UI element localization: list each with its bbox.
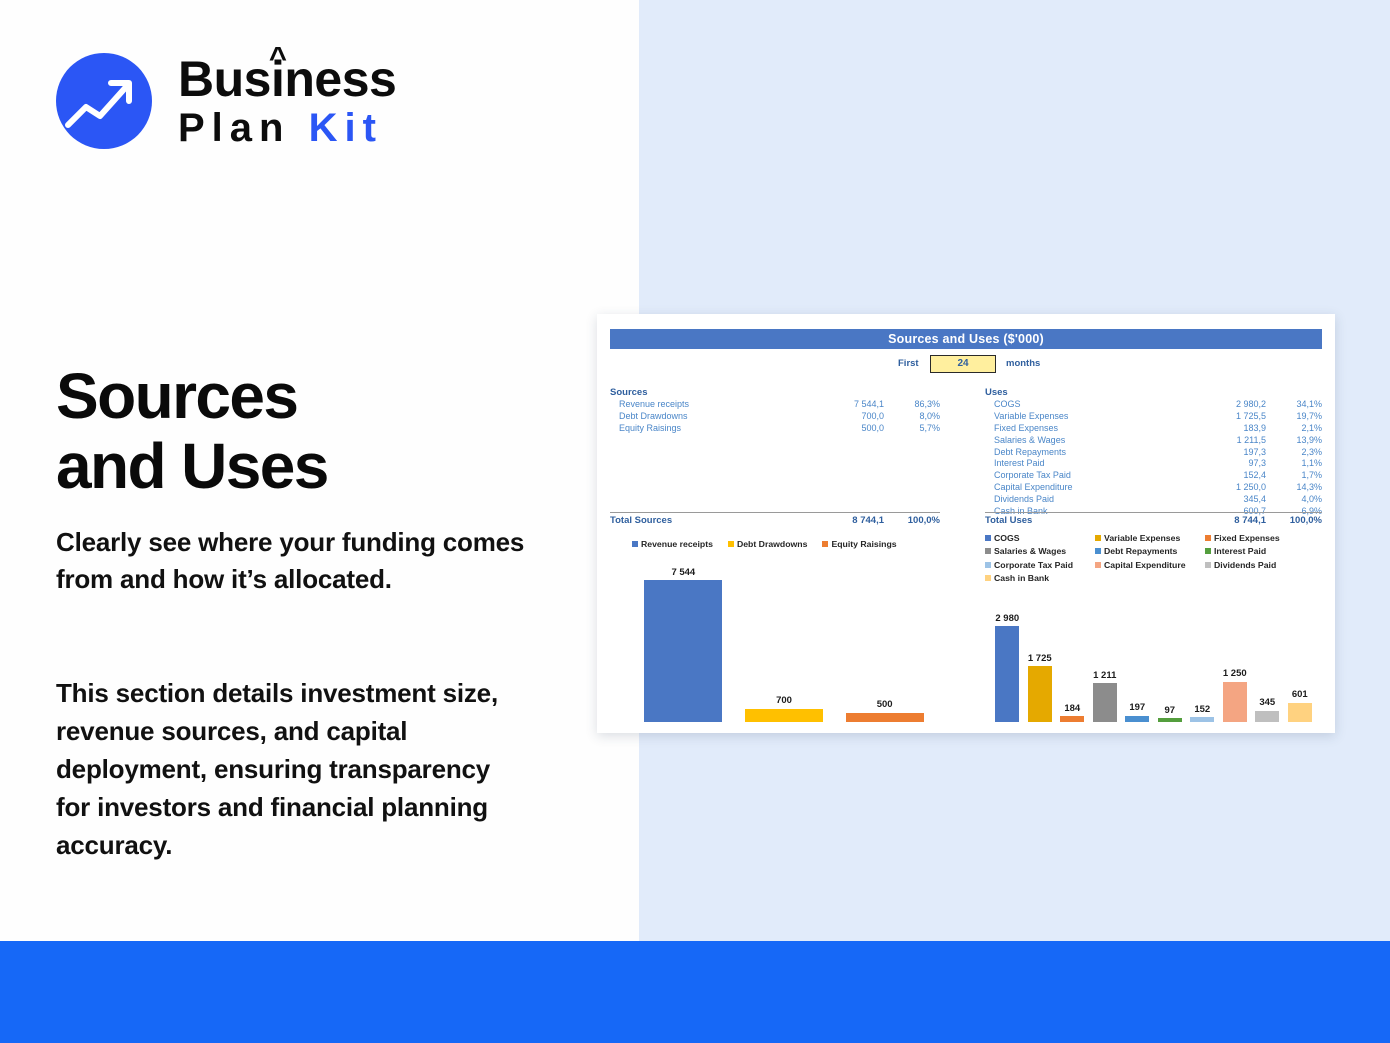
- use-item-amount: 1 250,0: [1192, 482, 1266, 494]
- use-item-amount: 2 980,2: [1192, 399, 1266, 411]
- bar-value-label: 7 544: [671, 567, 695, 578]
- legend-item[interactable]: Revenue receipts: [632, 539, 713, 549]
- uses-heading: Uses: [985, 386, 1322, 399]
- legend-item[interactable]: Variable Expenses: [1095, 533, 1205, 543]
- chart-bar[interactable]: 1 211: [1093, 562, 1117, 722]
- legend-label: Revenue receipts: [641, 539, 713, 549]
- table-row: Variable Expenses1 725,519,7%: [985, 411, 1322, 423]
- use-item-amount: 197,3: [1192, 447, 1266, 459]
- table-row: Fixed Expenses183,92,1%: [985, 423, 1322, 435]
- footer-band: [0, 941, 1390, 1043]
- source-item-percent: 8,0%: [884, 411, 940, 423]
- bar-value-label: 1 725: [1028, 653, 1052, 664]
- months-input[interactable]: 24: [930, 355, 996, 373]
- legend-swatch-icon: [728, 541, 734, 547]
- bar-rect: [1125, 716, 1149, 722]
- uses-total-amount: 8 744,1: [1192, 513, 1266, 528]
- bar-rect: [1158, 718, 1182, 722]
- source-item-percent: 5,7%: [884, 423, 940, 435]
- use-item-amount: 152,4: [1192, 470, 1266, 482]
- use-item-name: Debt Repayments: [985, 447, 1192, 459]
- chart-bar[interactable]: 345: [1255, 562, 1279, 722]
- brand-kit-word: Kit: [309, 106, 383, 150]
- use-item-percent: 13,9%: [1266, 435, 1322, 447]
- chart-bar[interactable]: 197: [1125, 562, 1149, 722]
- bar-rect: [1190, 717, 1214, 722]
- table-row: Debt Drawdowns700,08,0%: [610, 411, 940, 423]
- legend-label: Variable Expenses: [1104, 533, 1180, 543]
- brand-logo: Busi^ness Plan Kit: [56, 53, 446, 158]
- source-item-percent: 86,3%: [884, 399, 940, 411]
- legend-item[interactable]: Equity Raisings: [822, 539, 896, 549]
- bar-value-label: 345: [1259, 697, 1275, 708]
- bar-value-label: 197: [1129, 702, 1145, 713]
- legend-label: Fixed Expenses: [1214, 533, 1280, 543]
- bar-value-label: 97: [1164, 705, 1175, 716]
- bar-rect: [1093, 683, 1117, 722]
- brand-plan-word: Plan: [178, 106, 290, 150]
- legend-swatch-icon: [985, 548, 991, 554]
- sources-total-amount: 8 744,1: [810, 513, 884, 528]
- bar-rect: [644, 580, 722, 722]
- body-description-text: This section details investment size, re…: [56, 674, 526, 864]
- uses-bar-chart: 2 9801 7251841 211197971521 250345601: [985, 562, 1322, 722]
- legend-row: COGSVariable ExpensesFixed Expenses: [985, 531, 1315, 545]
- brand-name-line2: Plan Kit: [178, 105, 396, 151]
- chart-bar[interactable]: 97: [1158, 562, 1182, 722]
- use-item-name: Fixed Expenses: [985, 423, 1192, 435]
- period-prefix-label: First: [898, 358, 919, 369]
- use-item-name: Salaries & Wages: [985, 435, 1192, 447]
- source-item-name: Revenue receipts: [610, 399, 810, 411]
- use-item-name: Dividends Paid: [985, 494, 1192, 506]
- chart-bar[interactable]: 601: [1288, 562, 1312, 722]
- legend-label: Equity Raisings: [831, 539, 896, 549]
- use-item-percent: 19,7%: [1266, 411, 1322, 423]
- source-item-amount: 700,0: [810, 411, 884, 423]
- uses-total-row: Total Uses 8 744,1 100,0%: [985, 512, 1322, 528]
- sources-total-row: Total Sources 8 744,1 100,0%: [610, 512, 940, 528]
- uses-table: Uses COGS2 980,234,1%Variable Expenses1 …: [985, 386, 1322, 518]
- use-item-name: Capital Expenditure: [985, 482, 1192, 494]
- sources-heading: Sources: [610, 386, 940, 399]
- use-item-amount: 1 725,5: [1192, 411, 1266, 423]
- legend-item[interactable]: Interest Paid: [1205, 546, 1315, 556]
- sources-bar-chart: 7 544700500: [619, 562, 949, 722]
- legend-row: Salaries & WagesDebt RepaymentsInterest …: [985, 545, 1315, 559]
- legend-swatch-icon: [985, 535, 991, 541]
- legend-label: Debt Drawdowns: [737, 539, 807, 549]
- sources-chart-legend: Revenue receiptsDebt DrawdownsEquity Rai…: [632, 537, 932, 551]
- source-item-amount: 500,0: [810, 423, 884, 435]
- legend-item[interactable]: Debt Drawdowns: [728, 539, 807, 549]
- legend-item[interactable]: COGS: [985, 533, 1095, 543]
- period-suffix-label: months: [1006, 358, 1040, 369]
- table-row: Dividends Paid345,44,0%: [985, 494, 1322, 506]
- bar-value-label: 700: [776, 695, 792, 706]
- chart-bar[interactable]: 2 980: [995, 562, 1019, 722]
- bar-rect: [995, 626, 1019, 722]
- use-item-percent: 2,1%: [1266, 423, 1322, 435]
- legend-swatch-icon: [822, 541, 828, 547]
- bar-rect: [745, 709, 823, 722]
- legend-label: Debt Repayments: [1104, 546, 1177, 556]
- bar-value-label: 2 980: [995, 613, 1019, 624]
- use-item-name: Variable Expenses: [985, 411, 1192, 423]
- use-item-amount: 97,3: [1192, 458, 1266, 470]
- source-item-name: Debt Drawdowns: [610, 411, 810, 423]
- legend-label: COGS: [994, 533, 1020, 543]
- bar-value-label: 1 211: [1093, 670, 1116, 681]
- use-item-percent: 34,1%: [1266, 399, 1322, 411]
- bar-rect: [1028, 666, 1052, 722]
- chart-bar[interactable]: 700: [745, 562, 823, 722]
- bar-rect: [1288, 703, 1312, 722]
- legend-swatch-icon: [1095, 548, 1101, 554]
- bar-rect: [1255, 711, 1279, 722]
- use-item-name: Corporate Tax Paid: [985, 470, 1192, 482]
- legend-swatch-icon: [1095, 535, 1101, 541]
- chart-bar[interactable]: 500: [846, 562, 924, 722]
- use-item-percent: 1,7%: [1266, 470, 1322, 482]
- uses-total-label: Total Uses: [985, 513, 1192, 528]
- legend-label: Salaries & Wages: [994, 546, 1066, 556]
- use-item-percent: 4,0%: [1266, 494, 1322, 506]
- use-item-percent: 14,3%: [1266, 482, 1322, 494]
- use-item-amount: 345,4: [1192, 494, 1266, 506]
- bar-value-label: 1 250: [1223, 668, 1247, 679]
- legend-row: Revenue receiptsDebt DrawdownsEquity Rai…: [632, 537, 932, 551]
- chart-bar[interactable]: 184: [1060, 562, 1084, 722]
- chart-bar[interactable]: 1 725: [1028, 562, 1052, 722]
- sources-table: Sources Revenue receipts7 544,186,3%Debt…: [610, 386, 940, 435]
- sheet-title: Sources and Uses ($'000): [610, 329, 1322, 349]
- table-row: COGS2 980,234,1%: [985, 399, 1322, 411]
- table-row: Debt Repayments197,32,3%: [985, 447, 1322, 459]
- sources-total-label: Total Sources: [610, 513, 810, 528]
- sources-total-percent: 100,0%: [884, 513, 940, 528]
- legend-swatch-icon: [1205, 535, 1211, 541]
- uses-total-percent: 100,0%: [1266, 513, 1322, 528]
- chart-bar[interactable]: 7 544: [644, 562, 722, 722]
- use-item-amount: 183,9: [1192, 423, 1266, 435]
- page-title: Sourcesand Uses: [56, 361, 576, 501]
- legend-item[interactable]: Debt Repayments: [1095, 546, 1205, 556]
- table-row: Capital Expenditure1 250,014,3%: [985, 482, 1322, 494]
- use-item-percent: 2,3%: [1266, 447, 1322, 459]
- use-item-name: COGS: [985, 399, 1192, 411]
- legend-label: Interest Paid: [1214, 546, 1266, 556]
- period-selector-row: First 24 months: [610, 355, 1322, 374]
- table-row: Corporate Tax Paid152,41,7%: [985, 470, 1322, 482]
- subheading-text: Clearly see where your funding comes fro…: [56, 524, 526, 598]
- table-row: Equity Raisings500,05,7%: [610, 423, 940, 435]
- legend-item[interactable]: Salaries & Wages: [985, 546, 1095, 556]
- legend-item[interactable]: Fixed Expenses: [1205, 533, 1315, 543]
- table-row: Revenue receipts7 544,186,3%: [610, 399, 940, 411]
- table-row: Salaries & Wages1 211,513,9%: [985, 435, 1322, 447]
- growth-arrow-chart-icon: [56, 53, 152, 149]
- source-item-amount: 7 544,1: [810, 399, 884, 411]
- brand-name-line1: Busi^ness: [178, 51, 396, 107]
- bar-rect: [1223, 682, 1247, 722]
- bar-rect: [1060, 716, 1084, 722]
- bar-rect: [846, 713, 924, 722]
- legend-swatch-icon: [1205, 548, 1211, 554]
- use-item-amount: 1 211,5: [1192, 435, 1266, 447]
- legend-swatch-icon: [632, 541, 638, 547]
- bar-value-label: 601: [1292, 689, 1308, 700]
- chart-bar[interactable]: 152: [1190, 562, 1214, 722]
- bar-value-label: 152: [1194, 704, 1210, 715]
- chart-bar[interactable]: 1 250: [1223, 562, 1247, 722]
- source-item-name: Equity Raisings: [610, 423, 810, 435]
- use-item-percent: 1,1%: [1266, 458, 1322, 470]
- bar-value-label: 184: [1064, 703, 1080, 714]
- sources-and-uses-spreadsheet-card: Sources and Uses ($'000) First 24 months…: [597, 314, 1335, 733]
- use-item-name: Interest Paid: [985, 458, 1192, 470]
- table-row: Interest Paid97,31,1%: [985, 458, 1322, 470]
- bar-value-label: 500: [877, 699, 893, 710]
